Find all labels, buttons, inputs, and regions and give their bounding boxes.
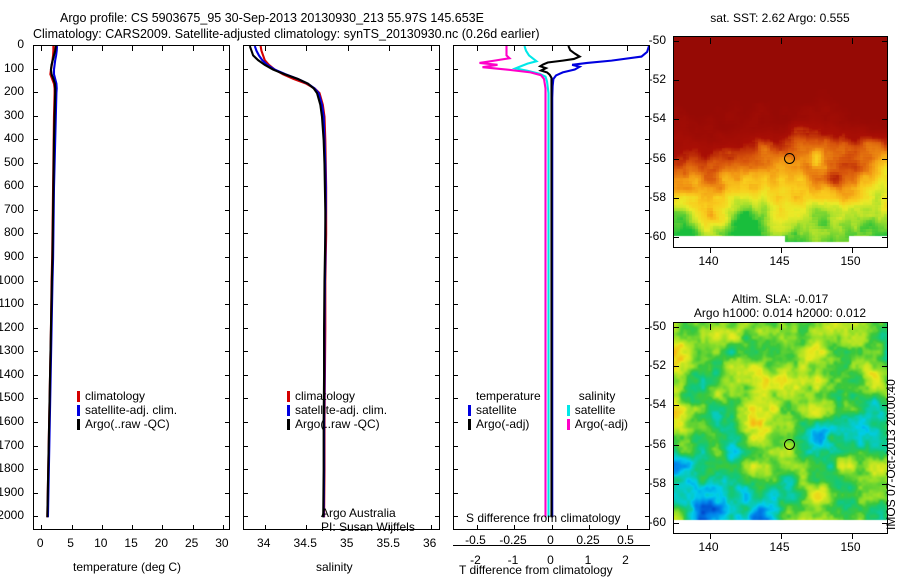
sst-map-float-marker [784,153,795,164]
depth-tick [453,375,458,376]
depth-tick [225,422,230,423]
depth-tick [435,351,440,352]
x-tick [265,525,266,530]
latitude-tick [882,445,888,446]
latitude-tick-label: -58 [649,190,666,204]
depth-tick [435,139,440,140]
longitude-tick [852,533,853,539]
sla-map-yaxis-ticks: -50-52-54-56-58-60 [645,316,673,541]
legend-swatch-satellite [468,405,471,416]
depth-tick [645,328,650,329]
depth-tick [645,116,650,117]
depth-tick [453,233,458,234]
latitude-tick [882,198,888,199]
depth-tick [645,281,650,282]
credit-line1: Argo Australia [321,506,415,520]
depth-tick-label: 1700 [0,438,24,452]
depth-tick [453,446,458,447]
latitude-tick [882,237,888,238]
depth-tick [243,351,248,352]
depth-tick [243,210,248,211]
x-tick [477,525,478,530]
depth-tick [243,422,248,423]
depth-tick [243,398,248,399]
x-tick [306,525,307,530]
depth-tick [453,469,458,470]
latitude-tick-label: -54 [649,111,666,125]
depth-tick [453,210,458,211]
x-tick [627,525,628,530]
depth-tick [453,116,458,117]
x-tick [552,525,553,530]
depth-tick [645,351,650,352]
depth-tick [225,45,230,46]
depth-tick [33,139,38,140]
legend-swatch-salinity-satellite [567,405,570,416]
legend-label: satellite-adj. clim. [295,403,387,417]
depth-tick-label: 2000 [0,508,24,522]
latitude-tick [673,119,679,120]
page-title-line1: Argo profile: CS 5903675_95 30-Sep-2013 … [60,11,484,25]
temperature-xaxis-ticks: 051015202530 [33,530,230,554]
depth-tick [645,446,650,447]
x-tick [514,46,515,51]
x-tick-label: 2 [622,553,629,567]
depth-tick [645,469,650,470]
x-tick [193,46,194,51]
x-tick [162,46,163,51]
legend-label: Argo(..raw -QC) [85,417,170,431]
legend-group-label: temperature [476,389,541,403]
latitude-tick-label: -52 [649,358,666,372]
depth-tick [435,92,440,93]
depth-tick [243,116,248,117]
latitude-tick-label: -54 [649,397,666,411]
legend-label: Argo(-adj) [575,417,628,431]
depth-tick [225,116,230,117]
depth-tick [645,69,650,70]
salinity-legend: climatology satellite-adj. clim. Argo(..… [287,389,387,431]
depth-tick [33,281,38,282]
legend-swatch-argo [287,419,290,430]
depth-tick [435,45,440,46]
sst-heatmap [674,37,887,247]
depth-tick [453,163,458,164]
sst-map-title: sat. SST: 2.62 Argo: 0.555 [675,11,885,25]
credit-block: Argo Australia PI: Susan Wijffels [321,506,415,534]
depth-tick [33,233,38,234]
depth-tick-label: 500 [4,155,24,169]
sla-map-title-line2: Argo h1000: 0.014 h2000: 0.012 [662,306,898,320]
depth-tick [435,422,440,423]
depth-tick [243,92,248,93]
depth-tick [225,304,230,305]
x-tick [514,525,515,530]
depth-tick [453,516,458,517]
latitude-tick-label: -60 [649,515,666,529]
longitude-tick-label: 150 [840,254,860,268]
depth-tick [33,375,38,376]
depth-tick [33,116,38,117]
latitude-tick [673,80,679,81]
depth-tick [243,69,248,70]
longitude-tick [710,324,711,330]
legend-item: Argo(-adj) [567,417,628,431]
depth-tick [453,186,458,187]
latitude-tick [673,445,679,446]
x-tick [72,46,73,51]
x-tick-label: 0 [37,536,44,550]
temperature-profile-curves [34,46,229,529]
difference-temperature-axis-label: T difference from climatology [459,563,613,577]
depth-tick [243,328,248,329]
x-tick [132,46,133,51]
depth-tick-label: 400 [4,131,24,145]
depth-tick [33,516,38,517]
depth-tick [435,233,440,234]
latitude-tick [673,41,679,42]
legend-item: satellite-adj. clim. [77,403,177,417]
longitude-tick [781,38,782,44]
temperature-legend: climatology satellite-adj. clim. Argo(..… [77,389,177,431]
x-tick-label: 34.5 [294,536,317,550]
depth-tick [33,493,38,494]
profile-line [480,46,546,517]
latitude-tick [882,41,888,42]
longitude-tick-label: 150 [840,540,860,554]
x-tick [348,46,349,51]
depth-tick [453,493,458,494]
depth-tick [645,375,650,376]
x-tick-label: 35.5 [377,536,400,550]
legend-item: climatology [77,389,177,403]
profile-line [47,46,55,517]
depth-tick-label: 1600 [0,414,24,428]
x-tick-label: 20 [155,536,168,550]
depth-tick [33,328,38,329]
longitude-tick [852,38,853,44]
legend-swatch-argo [77,419,80,430]
longitude-tick-label: 145 [769,540,789,554]
legend-label: climatology [295,389,355,403]
latitude-tick [882,327,888,328]
depth-tick [435,163,440,164]
legend-label: satellite [575,403,616,417]
x-tick-label: 10 [94,536,107,550]
depth-tick [225,69,230,70]
depth-tick [645,422,650,423]
x-tick-label: 25 [185,536,198,550]
legend-label: satellite-adj. clim. [85,403,177,417]
longitude-tick [852,324,853,330]
x-tick [223,525,224,530]
depth-tick [435,398,440,399]
latitude-tick [882,523,888,524]
temperature-axis-label: temperature (deg C) [73,560,181,574]
depth-tick [225,516,230,517]
depth-tick [453,398,458,399]
x-tick [389,46,390,51]
depth-tick [33,69,38,70]
sla-heatmap [674,323,887,533]
depth-tick [435,257,440,258]
depth-tick [243,493,248,494]
depth-tick-label: 1500 [0,390,24,404]
legend-item: climatology [287,389,387,403]
x-tick [627,46,628,51]
latitude-tick [673,523,679,524]
legend-group-label: salinity [579,389,616,403]
depth-tick [225,281,230,282]
depth-tick [225,351,230,352]
depth-tick-label: 700 [4,202,24,216]
x-tick [477,46,478,51]
latitude-tick [673,237,679,238]
depth-tick [645,186,650,187]
depth-tick [435,328,440,329]
difference-legend-salinity-column: salinity satellite Argo(-adj) [567,389,628,431]
difference-second-axis-line [453,545,650,546]
depth-tick [435,375,440,376]
latitude-tick [882,119,888,120]
depth-tick-label: 1300 [0,343,24,357]
x-tick [72,525,73,530]
legend-item: Argo(..raw -QC) [77,417,177,431]
x-tick-label: 15 [124,536,137,550]
latitude-tick-label: -50 [649,33,666,47]
depth-tick [435,116,440,117]
longitude-tick-label: 140 [698,254,718,268]
depth-tick-label: 800 [4,225,24,239]
latitude-tick-label: -60 [649,229,666,243]
longitude-tick [781,247,782,253]
x-tick [102,525,103,530]
depth-tick [225,469,230,470]
depth-tick [243,45,248,46]
depth-tick [225,398,230,399]
x-tick [348,525,349,530]
depth-tick [645,516,650,517]
depth-tick [33,351,38,352]
depth-tick [435,469,440,470]
sst-map-yaxis-ticks: -50-52-54-56-58-60 [645,30,673,255]
depth-tick [435,210,440,211]
depth-tick-label: 1400 [0,367,24,381]
profile-line [255,46,326,517]
x-tick [306,46,307,51]
legend-swatch-climatology [77,391,80,402]
legend-item: satellite [468,403,541,417]
depth-tick-label: 1200 [0,320,24,334]
legend-item: Argo(..raw -QC) [287,417,387,431]
x-tick [589,46,590,51]
x-tick [589,525,590,530]
depth-tick [453,69,458,70]
legend-label: satellite [476,403,517,417]
latitude-tick-label: -50 [649,319,666,333]
depth-tick [243,446,248,447]
profile-line [516,46,549,517]
x-tick [223,46,224,51]
longitude-tick [852,247,853,253]
longitude-tick [710,533,711,539]
depth-tick [33,210,38,211]
depth-tick [453,304,458,305]
depth-tick-label: 1100 [0,296,24,310]
longitude-tick-label: 145 [769,254,789,268]
legend-item: satellite [567,403,628,417]
depth-tick [243,469,248,470]
x-tick [41,46,42,51]
depth-tick [645,92,650,93]
depth-tick-label: 200 [4,84,24,98]
x-tick [132,525,133,530]
depth-tick [225,328,230,329]
x-tick-label: 35 [340,536,353,550]
depth-tick [453,281,458,282]
longitude-tick [781,324,782,330]
latitude-tick-label: -52 [649,72,666,86]
x-tick [41,525,42,530]
legend-swatch-satellite [77,405,80,416]
depth-tick [243,281,248,282]
x-tick [265,46,266,51]
depth-tick-label: 100 [4,61,24,75]
depth-tick [435,516,440,517]
latitude-tick [673,159,679,160]
longitude-tick [781,533,782,539]
legend-item: satellite-adj. clim. [287,403,387,417]
latitude-tick [673,198,679,199]
legend-label: Argo(-adj) [476,417,529,431]
depth-tick [645,139,650,140]
latitude-tick [673,366,679,367]
legend-item: Argo(-adj) [468,417,541,431]
depth-tick [645,493,650,494]
depth-tick [453,139,458,140]
depth-tick [33,469,38,470]
legend-header: salinity [567,389,628,403]
latitude-tick-label: -56 [649,437,666,451]
x-tick [193,525,194,530]
depth-tick [33,186,38,187]
depth-tick [33,446,38,447]
legend-swatch-satellite [287,405,290,416]
depth-tick [225,375,230,376]
depth-tick [33,45,38,46]
depth-tick [645,398,650,399]
imos-watermark: IMOS 07-Oct-2013 20:00:40 [884,379,898,530]
depth-tick [225,92,230,93]
depth-tick [243,163,248,164]
x-tick [431,525,432,530]
depth-tick [453,351,458,352]
longitude-tick-label: 140 [698,540,718,554]
x-tick-label: 5 [67,536,74,550]
depth-tick [225,163,230,164]
latitude-tick [882,405,888,406]
sla-map-float-marker [784,439,795,450]
depth-tick [453,92,458,93]
sla-map-title-line1: Altim. SLA: -0.017 [675,292,885,306]
x-tick-label: 30 [215,536,228,550]
depth-tick [453,328,458,329]
depth-tick-label: 1800 [0,461,24,475]
depth-tick-label: 600 [4,178,24,192]
depth-tick [243,516,248,517]
difference-salinity-axis-label: S difference from climatology [466,511,621,525]
x-tick-label: 34 [257,536,270,550]
page-title-line2: Climatology: CARS2009. Satellite-adjuste… [33,27,540,41]
legend-swatch-salinity-argo [567,419,570,430]
legend-swatch-climatology [287,391,290,402]
legend-label: Argo(..raw -QC) [295,417,380,431]
depth-tick [453,257,458,258]
latitude-tick [882,366,888,367]
difference-legend: temperature satellite Argo(-adj) salinit… [468,389,628,431]
depth-tick [225,233,230,234]
depth-tick [645,233,650,234]
depth-tick [33,398,38,399]
depth-tick-label: 0 [17,37,24,51]
depth-axis-labels: 0100200300400500600700800900100011001200… [0,0,33,580]
depth-tick [243,257,248,258]
latitude-tick [673,327,679,328]
legend-header: temperature [468,389,541,403]
depth-tick [435,186,440,187]
salinity-profile-curves [244,46,439,529]
depth-tick [225,186,230,187]
longitude-tick [710,247,711,253]
depth-tick [435,281,440,282]
x-tick-label: 36 [423,536,436,550]
x-tick [102,46,103,51]
depth-tick [645,257,650,258]
difference-legend-temperature-column: temperature satellite Argo(-adj) [468,389,541,431]
depth-tick [435,304,440,305]
depth-tick [33,257,38,258]
latitude-tick [882,80,888,81]
depth-tick [453,45,458,46]
longitude-tick [710,38,711,44]
profile-line [250,46,326,517]
depth-tick [645,210,650,211]
latitude-tick-label: -58 [649,476,666,490]
latitude-tick [882,159,888,160]
depth-tick [33,163,38,164]
depth-tick [645,45,650,46]
x-tick [552,46,553,51]
x-tick [431,46,432,51]
salinity-axis-label: salinity [316,560,353,574]
difference-profile-curves [454,46,649,529]
latitude-tick-label: -56 [649,151,666,165]
depth-tick [243,186,248,187]
depth-tick [435,69,440,70]
depth-tick [225,446,230,447]
depth-tick-label: 300 [4,108,24,122]
x-tick [162,525,163,530]
depth-tick [225,493,230,494]
latitude-tick [673,405,679,406]
depth-tick [435,493,440,494]
depth-tick [453,422,458,423]
profile-line [552,46,649,517]
legend-swatch-argo [468,419,471,430]
depth-tick-label: 900 [4,249,24,263]
depth-tick [243,304,248,305]
depth-tick [435,446,440,447]
